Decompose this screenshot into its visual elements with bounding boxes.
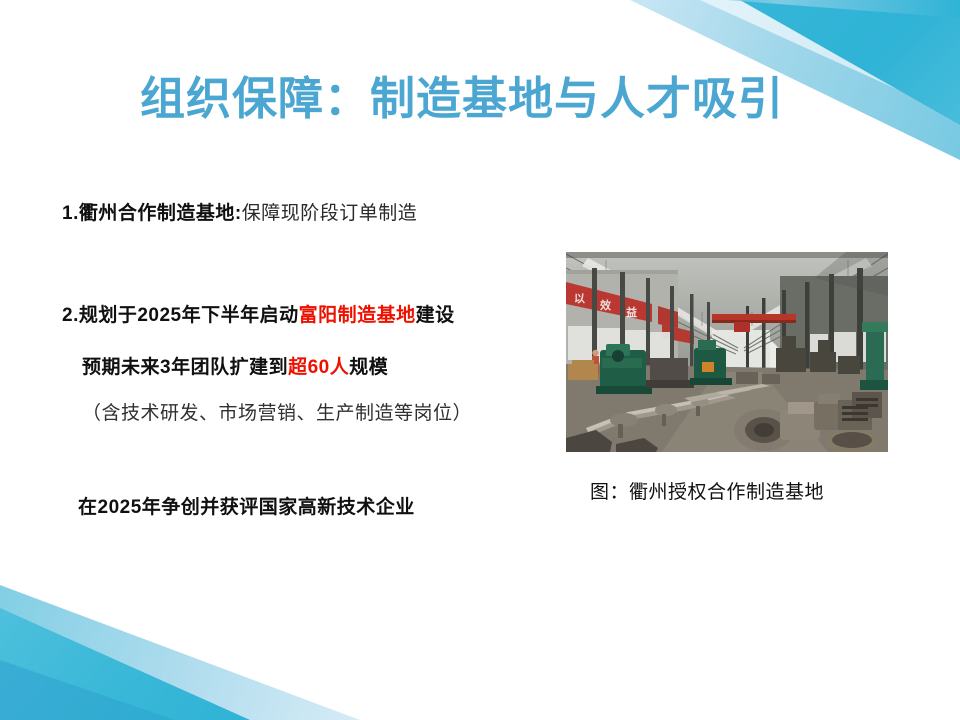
top-right-decoration-edge [660,0,960,18]
bullet-3-suffix: 规模 [349,357,388,378]
factory-photo: 以 效 益 [566,252,888,452]
slide-title: 组织保障：制造基地与人才吸引 [140,62,784,127]
bullet-item-2: 2.规划于2025年下半年启动富阳制造基地建设 [62,300,455,327]
bottom-left-decoration-front [0,608,250,720]
bullet-item-1: 1.衢州合作制造基地:保障现阶段订单制造 [62,198,417,225]
bullet-item-5: 在2025年争创并获评国家高新技术企业 [78,492,415,519]
bottom-left-decoration-accent [0,660,175,720]
presentation-slide: 组织保障：制造基地与人才吸引 1.衢州合作制造基地:保障现阶段订单制造 2.规划… [0,0,960,720]
bullet-3-prefix: 预期未来3年团队扩建到 [82,357,288,378]
bullet-2-prefix: 2.规划于2025年下半年启动 [62,305,299,326]
bottom-left-decoration-back [0,585,360,720]
bullet-2-suffix: 建设 [416,305,455,326]
bullet-2-highlight: 富阳制造基地 [299,305,416,326]
bullet-1-detail: 保障现阶段订单制造 [242,203,418,224]
photo-caption: 图：衢州授权合作制造基地 [590,477,824,504]
factory-photo-image: 以 效 益 [566,252,888,452]
bullet-3-highlight: 超60人 [288,357,349,378]
bullet-1-label: 1.衢州合作制造基地: [62,203,242,224]
bullet-item-3: 预期未来3年团队扩建到超60人规模 [82,352,388,379]
bullet-item-4: （含技术研发、市场营销、生产制造等岗位） [82,398,472,425]
